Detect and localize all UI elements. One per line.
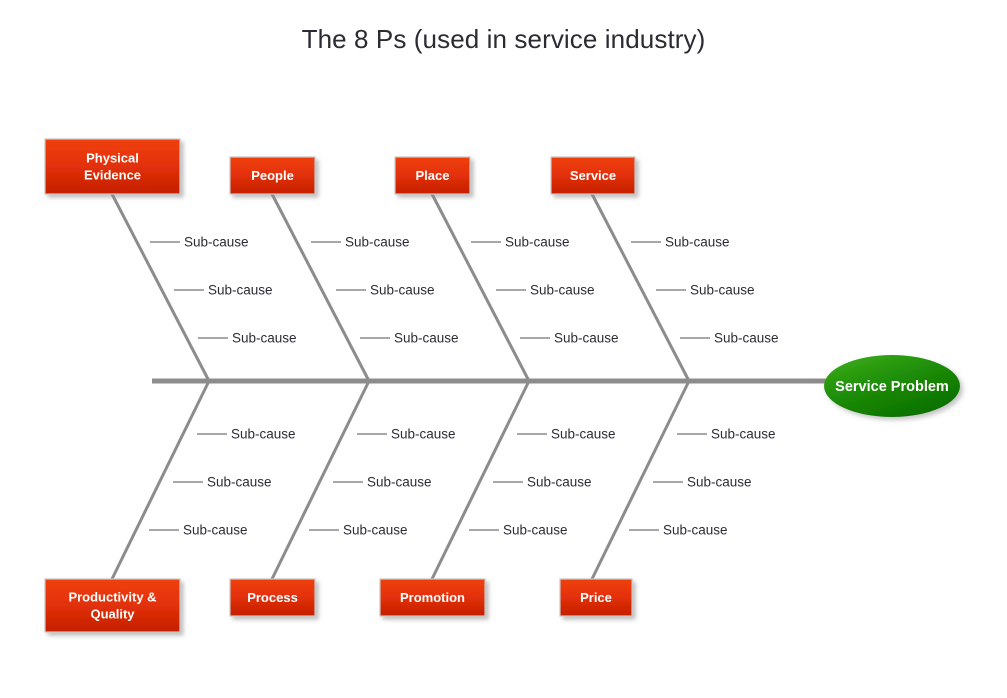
category-label-productivity-quality: Quality (90, 606, 135, 621)
category-rib-price (592, 381, 689, 579)
subcause-label[interactable]: Sub-cause (503, 523, 568, 538)
subcause-label[interactable]: Sub-cause (184, 235, 249, 250)
category-rib-service (592, 194, 689, 381)
subcause-label[interactable]: Sub-cause (232, 331, 297, 346)
subcause-label[interactable]: Sub-cause (391, 427, 456, 442)
subcause-label[interactable]: Sub-cause (711, 427, 776, 442)
category-label-physical-evidence: Evidence (84, 167, 141, 182)
category-box-service[interactable]: Service (551, 157, 635, 194)
category-box-price[interactable]: Price (560, 579, 632, 616)
subcause-label[interactable]: Sub-cause (207, 475, 272, 490)
category-rib-promotion (432, 381, 529, 579)
category-rib-process (272, 381, 369, 579)
category-label-service: Service (570, 168, 616, 183)
subcause-label[interactable]: Sub-cause (345, 235, 410, 250)
subcause-label[interactable]: Sub-cause (183, 523, 248, 538)
effect-node[interactable]: Service Problem (824, 355, 960, 417)
subcause-label[interactable]: Sub-cause (394, 331, 459, 346)
category-rib-physical-evidence (112, 194, 209, 381)
subcause-label[interactable]: Sub-cause (505, 235, 570, 250)
fishbone-svg: Service Problem PhysicalEvidencePeoplePl… (0, 0, 1007, 698)
category-label-price: Price (580, 590, 612, 605)
category-box-productivity-quality[interactable]: Productivity &Quality (45, 579, 180, 632)
effect-label: Service Problem (835, 379, 949, 395)
subcause-label[interactable]: Sub-cause (343, 523, 408, 538)
category-box-place[interactable]: Place (395, 157, 470, 194)
subcause-label[interactable]: Sub-cause (370, 283, 435, 298)
subcause-label[interactable]: Sub-cause (665, 235, 730, 250)
subcause-labels-layer: Sub-causeSub-causeSub-causeSub-causeSub-… (183, 235, 779, 538)
subcause-label[interactable]: Sub-cause (231, 427, 296, 442)
subcause-label[interactable]: Sub-cause (527, 475, 592, 490)
category-box-physical-evidence[interactable]: PhysicalEvidence (45, 139, 180, 194)
category-box-promotion[interactable]: Promotion (380, 579, 485, 616)
category-label-people: People (251, 168, 294, 183)
subcause-label[interactable]: Sub-cause (687, 475, 752, 490)
subcause-label[interactable]: Sub-cause (367, 475, 432, 490)
category-box-people[interactable]: People (230, 157, 315, 194)
category-boxes-layer: PhysicalEvidencePeoplePlaceServiceProduc… (45, 139, 635, 632)
category-rib-productivity-quality (112, 381, 209, 579)
category-rib-place (432, 194, 529, 381)
category-rib-people (272, 194, 369, 381)
fishbone-diagram: The 8 Ps (used in service industry) (0, 0, 1007, 698)
subcause-label[interactable]: Sub-cause (663, 523, 728, 538)
category-label-promotion: Promotion (400, 590, 465, 605)
category-box-process[interactable]: Process (230, 579, 315, 616)
subcause-label[interactable]: Sub-cause (208, 283, 273, 298)
subcause-label[interactable]: Sub-cause (554, 331, 619, 346)
subcause-label[interactable]: Sub-cause (551, 427, 616, 442)
subcause-label[interactable]: Sub-cause (690, 283, 755, 298)
subcause-label[interactable]: Sub-cause (714, 331, 779, 346)
category-label-process: Process (247, 590, 298, 605)
category-label-physical-evidence: Physical (86, 150, 139, 165)
ribs-layer (112, 194, 689, 579)
category-label-place: Place (416, 168, 450, 183)
subcause-label[interactable]: Sub-cause (530, 283, 595, 298)
category-label-productivity-quality: Productivity & (68, 589, 156, 604)
